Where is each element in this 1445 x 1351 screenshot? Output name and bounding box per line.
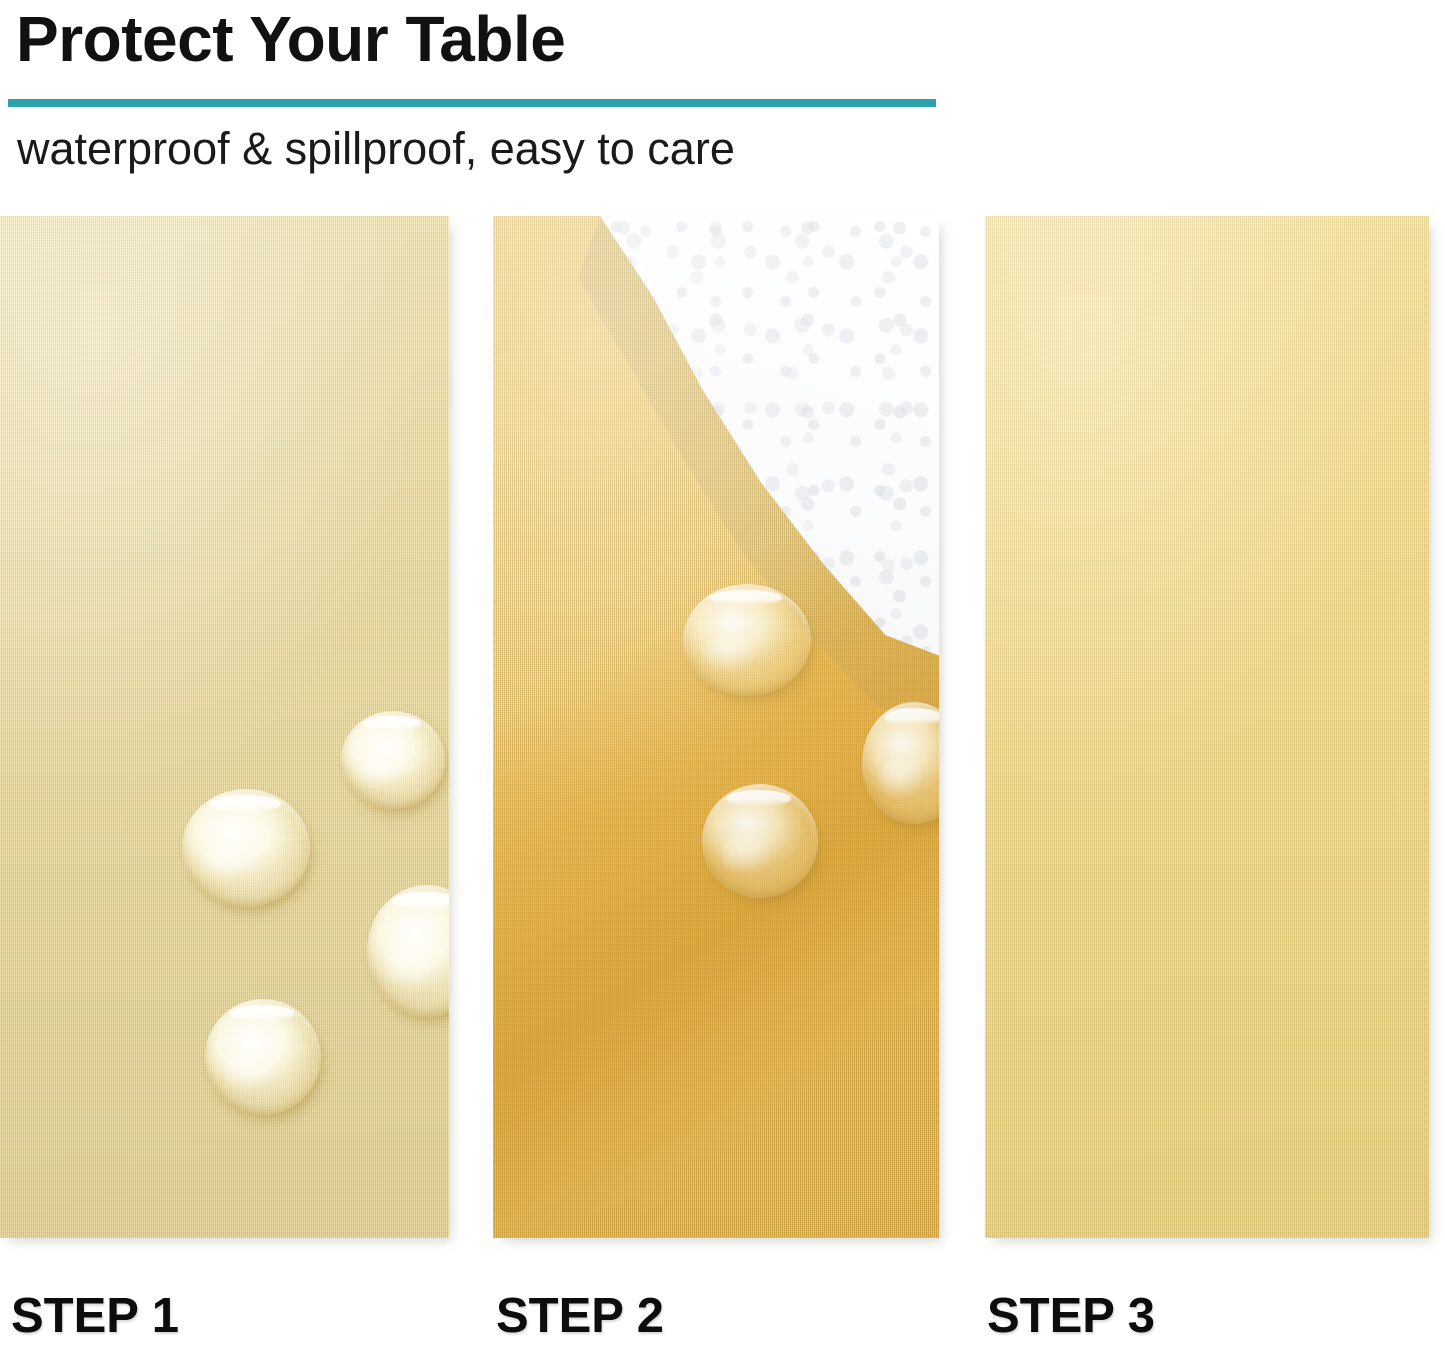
water-droplet (182, 789, 310, 907)
step-image-panel-1 (0, 216, 449, 1238)
panels-row (0, 216, 1445, 1238)
water-droplet (683, 584, 811, 696)
step-label-2: STEP 2 (496, 1288, 664, 1344)
step-captions-row: STEP 1 STEP 2 STEP 3 (0, 1288, 1445, 1351)
water-droplet (702, 784, 818, 898)
water-droplet (205, 999, 321, 1115)
title-divider (8, 99, 936, 107)
step-label-3: STEP 3 (987, 1288, 1155, 1344)
step-image-panel-2 (493, 216, 939, 1238)
fabric-texture (985, 216, 1429, 1238)
step-image-panel-3 (985, 216, 1429, 1238)
page-title: Protect Your Table (16, 2, 565, 78)
step-label-1: STEP 1 (11, 1288, 179, 1344)
water-droplet (341, 711, 445, 809)
page-subtitle: waterproof & spillproof, easy to care (17, 124, 735, 174)
header-block: Protect Your Table waterproof & spillpro… (0, 0, 1445, 200)
